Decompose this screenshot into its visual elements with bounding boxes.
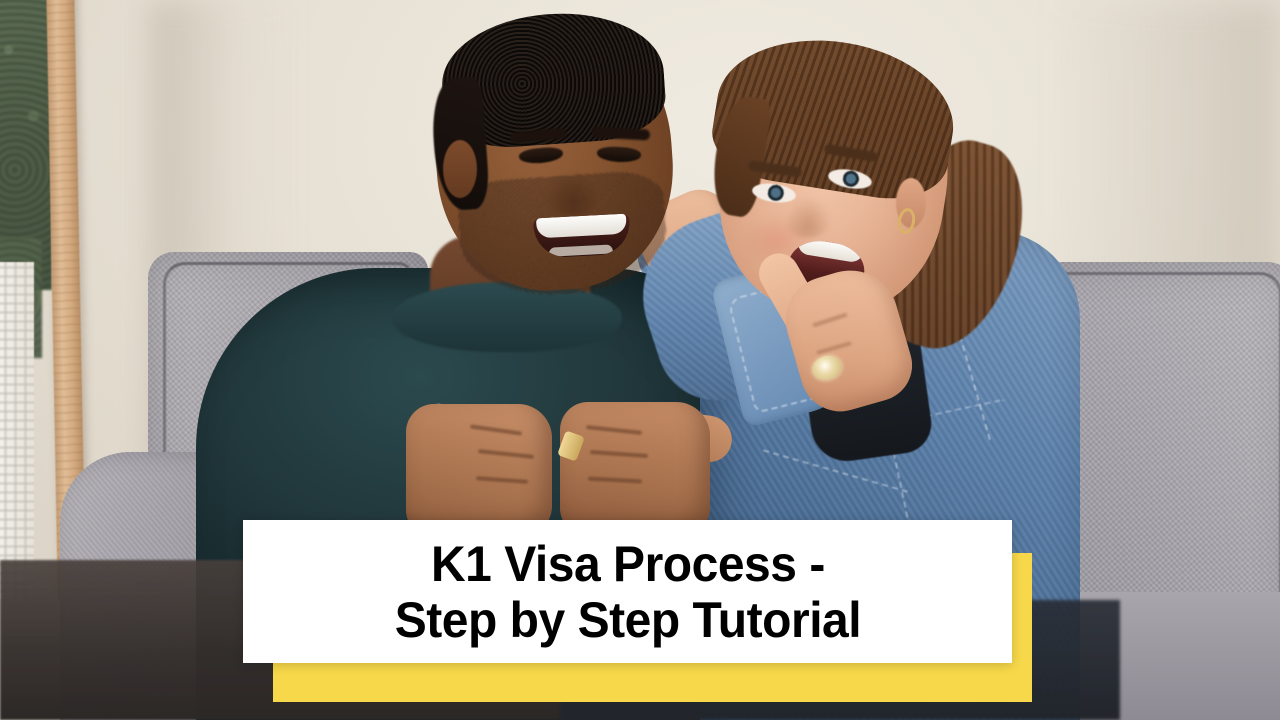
video-thumbnail: K1 Visa Process - Step by Step Tutorial [0, 0, 1280, 720]
woman-nose [784, 196, 832, 238]
man-teeth-upper [536, 214, 627, 239]
right-hand-fist [560, 402, 710, 536]
title-card: K1 Visa Process - Step by Step Tutorial [243, 520, 1012, 663]
title-line-1: K1 Visa Process - [394, 536, 860, 592]
man-nose [545, 172, 601, 216]
title-line-2: Step by Step Tutorial [394, 592, 860, 648]
man-ear [443, 140, 477, 198]
left-hand-fist [406, 404, 552, 536]
page-title: K1 Visa Process - Step by Step Tutorial [385, 536, 871, 648]
man-collar [392, 282, 622, 352]
